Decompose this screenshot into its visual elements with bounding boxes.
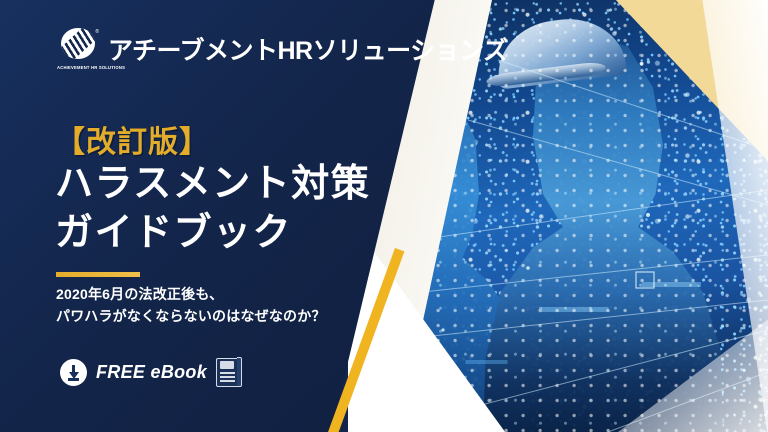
gold-divider	[56, 272, 140, 277]
download-circle-icon	[60, 359, 87, 386]
ebook-reader-icon	[216, 358, 239, 387]
logo-subtext: ACHIEVEMENT HR SOLUTIONS	[57, 65, 99, 70]
brand-logo[interactable]: ® ACHIEVEMENT HR SOLUTIONS アチーブメントHRソリュー…	[57, 28, 508, 70]
registered-trademark-mark: ®	[95, 30, 99, 35]
ebook-hero-banner: ® ACHIEVEMENT HR SOLUTIONS アチーブメントHRソリュー…	[0, 0, 768, 432]
page-subtitle: 2020年6月の法改正後も、 パワハラがなくならないのはなぜなのか？	[56, 284, 326, 327]
free-ebook-badge[interactable]: FREE eBook	[60, 358, 239, 387]
free-ebook-label: FREE eBook	[96, 362, 207, 383]
edition-eyebrow: 【改訂版】	[55, 117, 210, 161]
achievement-swoosh-logo-icon: ® ACHIEVEMENT HR SOLUTIONS	[57, 28, 99, 70]
company-name: アチーブメントHRソリューションズ	[108, 31, 508, 67]
page-title: ハラスメント対策 ガイドブック	[55, 160, 370, 257]
